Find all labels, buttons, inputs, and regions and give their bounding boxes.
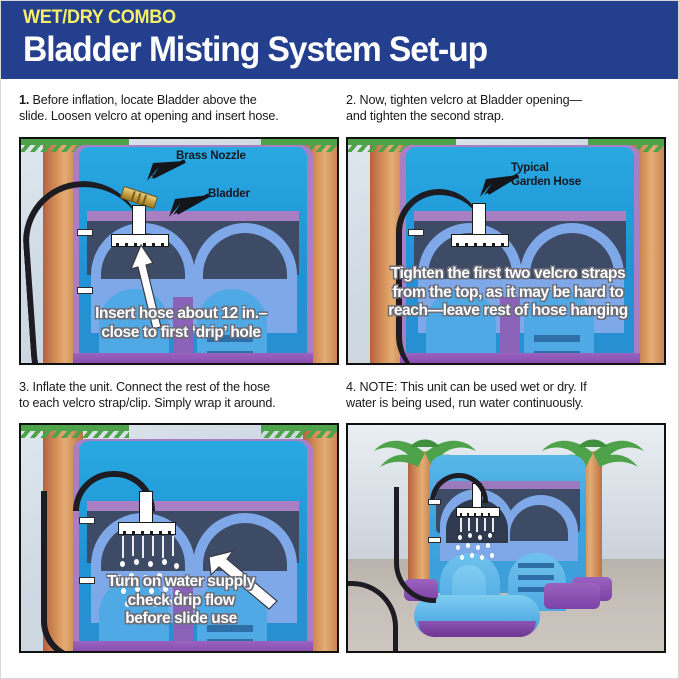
- water-drop: [148, 561, 153, 567]
- step-3-instruction: 3. Inflate the unit. Connect the rest of…: [19, 380, 341, 411]
- water-drop-4: [488, 533, 492, 538]
- drip-hole-2-2: [465, 243, 468, 247]
- drip-hole-1-3: [123, 531, 126, 535]
- page-title: Bladder Misting System Set-up: [23, 29, 654, 71]
- water-stream-4-4: [484, 518, 486, 531]
- drip-hole-5-4: [488, 513, 490, 516]
- water-stream-2-4: [468, 518, 470, 531]
- water-stream-3-4: [476, 518, 478, 532]
- water-stream-3: [142, 536, 144, 558]
- panel-step-1: Brass Nozzle Bladder Insert hose about 1…: [19, 137, 339, 365]
- header-banner: WET/DRY COMBO Bladder Misting System Set…: [1, 1, 679, 79]
- header-divider: [1, 79, 679, 82]
- water-stream-4: [152, 536, 154, 556]
- water-stream-5-4: [492, 518, 494, 532]
- panel-step-4: [346, 423, 666, 653]
- drip-hole-4-2: [483, 243, 486, 247]
- velcro-strap-1-4: [428, 499, 441, 505]
- step-1-line-1: 1. Before inflation, locate Bladder abov…: [19, 93, 257, 107]
- step-1-instruction: 1. Before inflation, locate Bladder abov…: [19, 93, 339, 124]
- scene-2: Typical Garden Hose Tighten the first tw…: [348, 139, 664, 363]
- nozzle-rib-2: [136, 193, 141, 204]
- bladder-manifold-4: [456, 507, 500, 517]
- velcro-strap-1-2: [408, 229, 424, 236]
- step-rung-2-4: [518, 575, 554, 580]
- drip-hole-1-2: [456, 243, 459, 247]
- drip-hole-3-3: [141, 531, 144, 535]
- scene-3: Turn on water supply check drip flow bef…: [21, 425, 337, 651]
- label-bladder: Bladder: [208, 187, 250, 201]
- splash-pool-base-4: [418, 621, 536, 637]
- palm-frond-left-jag-3: [21, 429, 129, 438]
- water-drop: [174, 563, 179, 569]
- water-drop-4: [468, 533, 472, 538]
- drip-hole-2-4: [467, 513, 469, 516]
- water-drop-4: [456, 545, 460, 550]
- water-drop-4: [458, 535, 462, 540]
- caption-step-3: Turn on water supply check drip flow bef…: [21, 573, 337, 629]
- bladder-neck-3: [139, 491, 153, 525]
- water-drop-4: [460, 555, 464, 560]
- water-drop-4: [480, 555, 484, 560]
- drip-hole-3-4: [474, 513, 476, 516]
- velcro-strap-2-4: [428, 537, 441, 543]
- arrow-to-garden-hose: [466, 171, 522, 201]
- arrow-to-brass-nozzle: [129, 157, 189, 187]
- caption-step-1: Insert hose about 12 in.– close to first…: [21, 305, 337, 342]
- water-drop-4: [478, 535, 482, 540]
- drip-hole-5-2: [492, 243, 495, 247]
- step-1-line-2: slide. Loosen velcro at opening and inse…: [19, 109, 279, 123]
- water-stream-1: [122, 536, 124, 558]
- drip-hole-6-3: [168, 531, 171, 535]
- drip-hole-1: [116, 243, 119, 247]
- instruction-sheet: WET/DRY COMBO Bladder Misting System Set…: [0, 0, 679, 679]
- step-2-line-1: 2. Now, tighten velcro at Bladder openin…: [346, 93, 582, 107]
- caption-step-2: Tighten the first two velcro straps from…: [348, 265, 664, 321]
- step-2-line-2: and tighten the second strap.: [346, 109, 504, 123]
- drip-hole-2-3: [132, 531, 135, 535]
- palm-frond-right-3: [261, 425, 337, 431]
- step-4-line-2: water is being used, run water continuou…: [346, 396, 583, 410]
- step-3-line-2: to each velcro strap/clip. Simply wrap i…: [19, 396, 276, 410]
- drip-hole-4-3: [150, 531, 153, 535]
- step-4-line-1: 4. NOTE: This unit can be used wet or dr…: [346, 380, 587, 394]
- water-drop: [134, 559, 139, 565]
- drip-hole-6-2: [501, 243, 504, 247]
- drip-hole-1-4: [460, 513, 462, 516]
- drip-hole-3-2: [474, 243, 477, 247]
- panel-step-2: Typical Garden Hose Tighten the first tw…: [346, 137, 666, 365]
- water-drop-4: [466, 543, 470, 548]
- bladder-neck: [132, 205, 146, 237]
- step-4-instruction: 4. NOTE: This unit can be used wet or dr…: [346, 380, 671, 411]
- step-2-instruction: 2. Now, tighten velcro at Bladder openin…: [346, 93, 671, 124]
- scene-4: [348, 425, 664, 651]
- water-drop: [162, 559, 167, 565]
- bounce-house-base-3: [73, 641, 313, 651]
- water-drop-4: [490, 553, 494, 558]
- anchor-base-mid-4: [544, 583, 600, 609]
- water-stream-1-4: [460, 518, 462, 532]
- water-drop: [120, 561, 125, 567]
- arrow-to-bladder: [153, 191, 213, 221]
- velcro-strap-1: [77, 229, 93, 236]
- velcro-strap-2: [77, 287, 93, 294]
- step-3-line-1: 3. Inflate the unit. Connect the rest of…: [19, 380, 270, 394]
- palm-frond-right-jag-3: [261, 429, 337, 438]
- water-stream-2: [132, 536, 134, 556]
- water-stream-6: [172, 536, 174, 556]
- step-rung-1-2: [534, 335, 580, 342]
- scene-1: Brass Nozzle Bladder Insert hose about 1…: [21, 139, 337, 363]
- velcro-strap-1-3: [79, 517, 95, 524]
- step-rung-1-4: [518, 563, 554, 568]
- nozzle-rib-1: [130, 191, 135, 202]
- water-drop-4: [470, 553, 474, 558]
- water-stream-5: [162, 536, 164, 558]
- water-drop-4: [476, 545, 480, 550]
- drip-hole-4-4: [481, 513, 483, 516]
- drip-hole-5-3: [159, 531, 162, 535]
- water-drop-4: [486, 543, 490, 548]
- header-kicker: WET/DRY COMBO: [23, 7, 647, 29]
- palm-frond-left-3: [21, 425, 129, 431]
- panel-step-3: Turn on water supply check drip flow bef…: [19, 423, 339, 653]
- bladder-neck-2: [472, 203, 486, 237]
